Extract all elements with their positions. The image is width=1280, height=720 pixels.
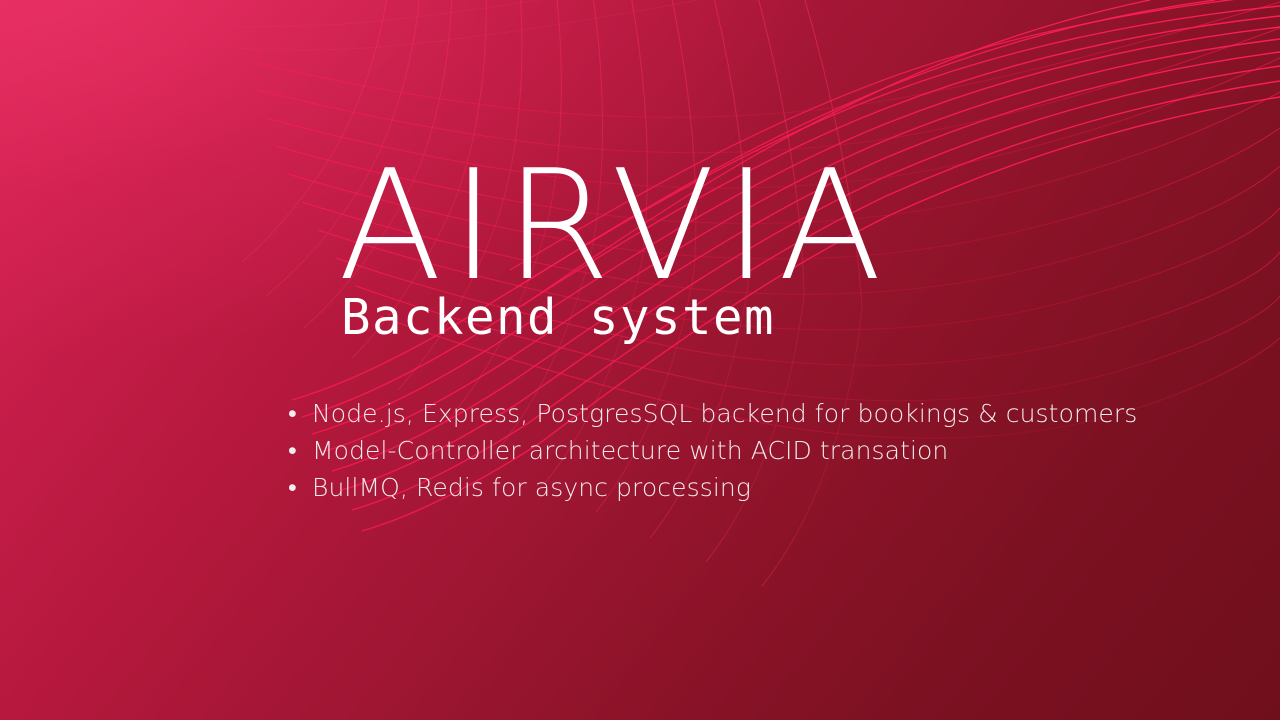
bullet-dot-icon: • (288, 399, 312, 429)
list-item: • Model-Controller architecture with ACI… (288, 436, 1137, 473)
bullet-dot-icon: • (288, 436, 312, 466)
slide-subtitle: Backend system (341, 293, 775, 342)
list-item-label: BullMQ, Redis for async processing (312, 473, 751, 503)
list-item: • BullMQ, Redis for async processing (288, 473, 1137, 510)
list-item-label: Model-Controller architecture with ACID … (312, 436, 948, 466)
list-item: • Node.js, Express, PostgresSQL backend … (288, 399, 1137, 436)
slide-content: AIRVIA Backend system • Node.js, Express… (0, 0, 1280, 720)
page-title: AIRVIA (338, 150, 891, 302)
bullet-dot-icon: • (288, 473, 312, 503)
presentation-slide: AIRVIA Backend system • Node.js, Express… (0, 0, 1280, 720)
list-item-label: Node.js, Express, PostgresSQL backend fo… (312, 399, 1137, 429)
bullet-list: • Node.js, Express, PostgresSQL backend … (288, 399, 1137, 510)
